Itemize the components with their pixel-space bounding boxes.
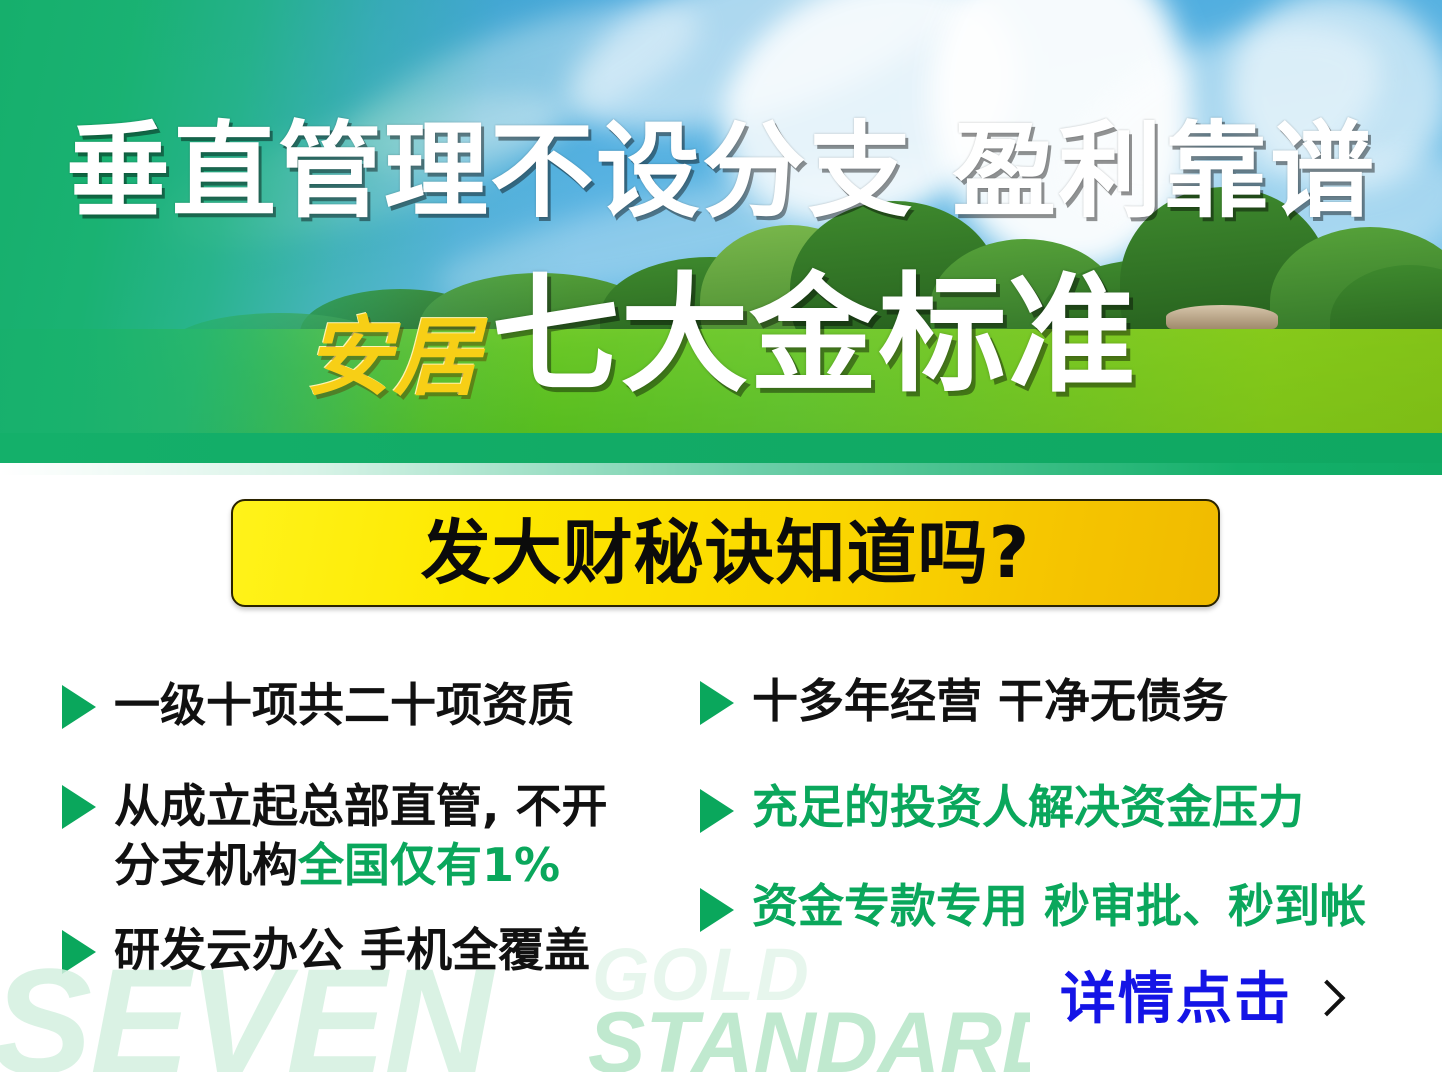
list-item[interactable]: 十多年经营 干净无债务 xyxy=(700,673,1228,730)
triangle-right-icon xyxy=(62,930,96,974)
triangle-right-icon xyxy=(62,785,96,829)
feature-text: 从成立起总部直管, 不开 分支机构全国仅有1% xyxy=(114,777,634,895)
triangle-right-icon xyxy=(700,888,734,932)
list-item[interactable]: 充足的投资人解决资金压力 xyxy=(700,779,1304,836)
hero-fade-strip xyxy=(0,463,1442,475)
feature-text: 一级十项共二十项资质 xyxy=(114,677,574,734)
triangle-right-icon xyxy=(62,685,96,729)
chevron-right-icon xyxy=(1309,980,1346,1017)
hero-bottom-green-band xyxy=(0,433,1442,463)
detail-link-label: 详情点击 xyxy=(1060,972,1292,1028)
feature-text: 十多年经营 干净无债务 xyxy=(752,673,1228,730)
detail-link[interactable]: 详情点击 xyxy=(1060,972,1340,1028)
feature-text-line1: 从成立起总部直管, 不开 xyxy=(114,779,608,833)
hero-headline-main: 七大金标准 xyxy=(491,272,1136,400)
feature-text: 研发云办公 手机全覆盖 xyxy=(114,922,590,979)
hero-headline-primary: 垂直管理不设分支 盈利靠谱 xyxy=(0,116,1442,226)
list-item[interactable]: 研发云办公 手机全覆盖 xyxy=(62,922,590,979)
list-item[interactable]: 一级十项共二十项资质 xyxy=(62,677,574,734)
headline-cta-banner[interactable]: 发大财秘诀知道吗? xyxy=(231,499,1220,607)
list-item[interactable]: 资金专款专用 秒审批、秒到帐 xyxy=(700,878,1366,935)
triangle-right-icon xyxy=(700,681,734,725)
feature-text-highlight: 全国仅有1% xyxy=(298,838,560,892)
cta-banner-text: 发大财秘诀知道吗? xyxy=(421,518,1031,588)
triangle-right-icon xyxy=(700,789,734,833)
hero-brand-label: 安居 xyxy=(305,287,481,412)
feature-text: 充足的投资人解决资金压力 xyxy=(752,779,1304,836)
feature-text: 资金专款专用 秒审批、秒到帐 xyxy=(752,878,1366,935)
hero-banner: 垂直管理不设分支 盈利靠谱 安居七大金标准 xyxy=(0,0,1442,463)
list-item[interactable]: 从成立起总部直管, 不开 分支机构全国仅有1% xyxy=(62,777,634,895)
hero-headline-secondary: 安居七大金标准 xyxy=(0,272,1442,412)
feature-text-line2-prefix: 分支机构 xyxy=(114,838,298,892)
